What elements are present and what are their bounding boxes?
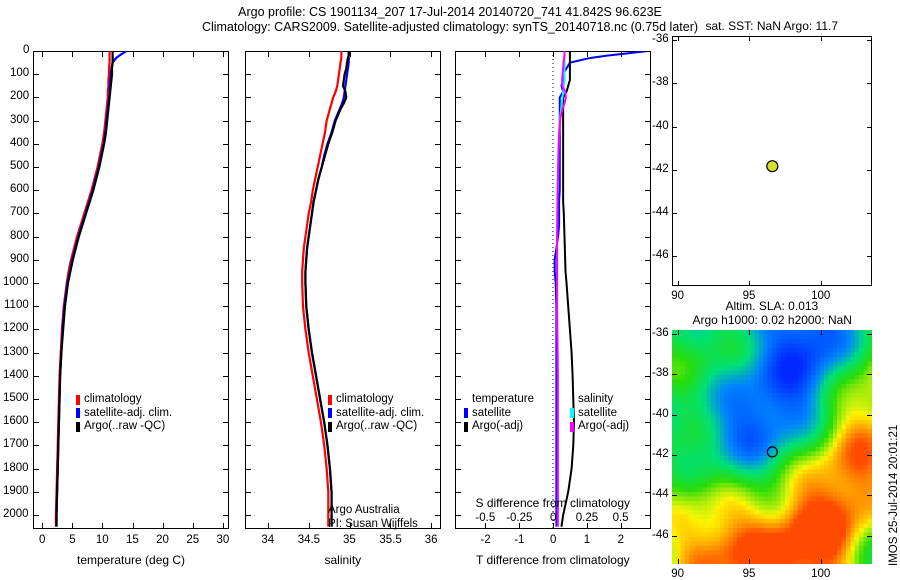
map-ytick <box>867 213 872 214</box>
legend-item: temperature <box>464 393 534 407</box>
map-xtick <box>749 36 750 41</box>
map-ytick <box>867 536 872 537</box>
legend-item: Argo(..raw -QC) <box>76 420 172 434</box>
legend-swatch-argo-adj-salinity <box>570 422 574 432</box>
xtick <box>309 51 310 57</box>
ytick <box>245 469 251 470</box>
ytick <box>435 399 441 400</box>
ytick <box>645 144 651 145</box>
xtick <box>223 523 224 529</box>
ytick <box>455 329 461 330</box>
ytick <box>223 144 229 145</box>
legend-label: Argo(..raw -QC) <box>336 420 417 434</box>
map-ytick <box>672 455 677 456</box>
ytick <box>245 353 251 354</box>
legend-label: salinity <box>578 393 613 407</box>
credit-block: Argo Australia PI: Susan Wijffels <box>328 504 418 531</box>
map-ytick <box>867 455 872 456</box>
ytick <box>435 144 441 145</box>
ytick <box>223 399 229 400</box>
map-canvas-sst_map <box>672 36 872 286</box>
map-xtick <box>678 559 679 564</box>
ytick <box>33 260 39 261</box>
s-xtick-label: -0.25 <box>506 512 532 524</box>
map-xtick <box>821 330 822 335</box>
ytick <box>33 445 39 446</box>
ytick <box>245 399 251 400</box>
xaxis-label-salinity: salinity <box>325 553 362 567</box>
map-ytick <box>672 83 677 84</box>
ytick <box>223 213 229 214</box>
legend-swatch-argo-raw <box>76 422 80 432</box>
ytick <box>435 97 441 98</box>
map-ytick <box>672 127 677 128</box>
map-ytick <box>867 127 872 128</box>
ytick <box>223 445 229 446</box>
ytick <box>33 329 39 330</box>
xtick <box>42 523 43 529</box>
ytick <box>435 213 441 214</box>
map-ytick-label: -36 <box>652 327 669 339</box>
difference-legend-salinity: salinity satellite Argo(-adj) <box>570 393 629 434</box>
ytick <box>645 260 651 261</box>
ytick <box>33 306 39 307</box>
legend-label: climatology <box>336 393 394 407</box>
ytick <box>223 237 229 238</box>
ytick <box>33 422 39 423</box>
xtick <box>72 51 73 57</box>
ytick <box>245 445 251 446</box>
map-xtick <box>678 281 679 286</box>
xtick <box>431 523 432 529</box>
map-ytick-label: -42 <box>652 163 669 175</box>
plot-canvas-temperature <box>33 51 229 529</box>
ytick <box>245 190 251 191</box>
ytick <box>223 492 229 493</box>
map-xtick <box>749 559 750 564</box>
map-ytick <box>867 83 872 84</box>
map-xtick <box>749 330 750 335</box>
ytick <box>645 399 651 400</box>
map-ytick <box>867 256 872 257</box>
map-xtick-label: 90 <box>671 290 684 302</box>
ytick <box>33 515 39 516</box>
xtick-label: 1 <box>584 534 590 546</box>
legend-item: Argo(..raw -QC) <box>328 420 424 434</box>
map-ytick-label: -42 <box>652 448 669 460</box>
ytick <box>245 422 251 423</box>
ytick <box>223 329 229 330</box>
ytick <box>455 515 461 516</box>
map-ytick-label: -38 <box>652 367 669 379</box>
legend-label: satellite-adj. clim. <box>84 407 172 421</box>
ytick <box>33 283 39 284</box>
xtick-label: 25 <box>186 534 199 546</box>
ytick <box>33 353 39 354</box>
ytick <box>245 260 251 261</box>
map-xtick <box>678 36 679 41</box>
legend-label: temperature <box>472 393 534 407</box>
ytick <box>645 353 651 354</box>
map-ytick <box>672 213 677 214</box>
xtick-label: 36 <box>425 534 438 546</box>
ytick <box>455 237 461 238</box>
ytick <box>223 469 229 470</box>
legend-item: satellite-adj. clim. <box>76 407 172 421</box>
map-title: Altim. SLA: 0.013 <box>726 299 819 313</box>
ytick <box>455 306 461 307</box>
xtick-label: 20 <box>156 534 169 546</box>
map-ytick <box>867 40 872 41</box>
legend-label: Argo(..raw -QC) <box>84 420 165 434</box>
ytick <box>645 515 651 516</box>
map-ytick <box>867 334 872 335</box>
ytick <box>645 283 651 284</box>
ytick <box>645 376 651 377</box>
map-ytick-label: -46 <box>652 529 669 541</box>
ytick <box>33 492 39 493</box>
map-ytick <box>867 495 872 496</box>
plot-canvas-difference <box>455 51 651 529</box>
xaxis-label-temperature: temperature (deg C) <box>77 553 185 567</box>
s-xtick-label: 0.5 <box>613 512 629 524</box>
ytick-label: 1800 <box>3 462 29 474</box>
plot-canvas-salinity <box>245 51 441 529</box>
ytick <box>245 144 251 145</box>
ytick-label: 100 <box>10 67 29 79</box>
imos-timestamp: IMOS 25-Jul-2014 20:01:21 <box>888 425 900 566</box>
xtick <box>309 523 310 529</box>
ytick <box>223 190 229 191</box>
ytick-label: 200 <box>10 90 29 102</box>
ytick <box>455 97 461 98</box>
ytick <box>455 492 461 493</box>
map-ytick-label: -36 <box>652 33 669 45</box>
map-ytick-label: -44 <box>652 488 669 500</box>
ytick <box>245 74 251 75</box>
map-ytick <box>672 374 677 375</box>
xtick <box>163 51 164 57</box>
ytick <box>245 51 251 52</box>
ytick <box>455 353 461 354</box>
xtick-label: 35 <box>343 534 356 546</box>
xtick <box>193 523 194 529</box>
map-ytick <box>867 374 872 375</box>
xtick <box>133 51 134 57</box>
ytick <box>33 376 39 377</box>
ytick <box>435 283 441 284</box>
ytick <box>223 515 229 516</box>
ytick <box>455 74 461 75</box>
ytick-label: 0 <box>23 44 29 56</box>
ytick <box>33 97 39 98</box>
ytick-label: 400 <box>10 137 29 149</box>
ytick <box>223 260 229 261</box>
ytick-label: 800 <box>10 230 29 242</box>
legend-swatch-argo-raw <box>328 422 332 432</box>
ytick <box>645 422 651 423</box>
map-xtick <box>821 559 822 564</box>
xtick <box>163 523 164 529</box>
legend-swatch-spacer <box>570 395 574 405</box>
ytick <box>33 469 39 470</box>
map-ytick-label: -46 <box>652 249 669 261</box>
xtick <box>553 51 554 57</box>
ytick <box>435 492 441 493</box>
ytick-label: 600 <box>10 183 29 195</box>
s-axis-label: S difference from climatology <box>476 496 631 510</box>
ytick-label: 1500 <box>3 392 29 404</box>
ytick-label: 1100 <box>4 299 29 311</box>
ytick <box>223 97 229 98</box>
ytick <box>435 190 441 191</box>
map-ytick-label: -38 <box>652 76 669 88</box>
ytick <box>455 144 461 145</box>
xtick <box>102 523 103 529</box>
legend-item: climatology <box>328 393 424 407</box>
map-title: Argo h1000: 0.02 h2000: NaN <box>693 313 852 327</box>
map-ytick <box>867 415 872 416</box>
xtick-label: -2 <box>480 534 490 546</box>
map-ytick <box>672 40 677 41</box>
map-ytick <box>672 256 677 257</box>
map-xtick <box>821 36 822 41</box>
ytick-label: 2000 <box>3 508 29 520</box>
legend-item: satellite <box>464 407 534 421</box>
map-xtick <box>678 330 679 335</box>
legend-swatch-spacer <box>464 395 468 405</box>
ytick <box>33 167 39 168</box>
ytick <box>223 283 229 284</box>
ytick <box>645 237 651 238</box>
ytick <box>33 237 39 238</box>
difference-legend-temperature: temperature satellite Argo(-adj) <box>464 393 534 434</box>
ytick <box>245 97 251 98</box>
map-title: sat. SST: NaN Argo: 11.7 <box>706 19 839 33</box>
map-canvas-sla_map <box>672 330 872 564</box>
ytick <box>455 422 461 423</box>
ytick <box>435 260 441 261</box>
ytick <box>645 190 651 191</box>
salinity-legend: climatology satellite-adj. clim. Argo(..… <box>328 393 424 434</box>
legend-item: satellite <box>570 407 629 421</box>
legend-swatch-satellite-adj <box>76 408 80 418</box>
legend-item: climatology <box>76 393 172 407</box>
ytick <box>435 167 441 168</box>
ytick <box>223 51 229 52</box>
map-ytick <box>867 170 872 171</box>
xtick-label: 15 <box>126 534 139 546</box>
legend-swatch-satellite-salinity <box>570 408 574 418</box>
ytick <box>645 445 651 446</box>
xtick <box>587 51 588 57</box>
ytick <box>223 306 229 307</box>
xtick <box>193 51 194 57</box>
xtick <box>621 51 622 57</box>
ytick <box>245 515 251 516</box>
legend-swatch-argo-adj-temperature <box>464 422 468 432</box>
ytick <box>245 121 251 122</box>
page-title-line1: Argo profile: CS 1901134_207 17-Jul-2014… <box>0 5 900 20</box>
map-ytick <box>672 495 677 496</box>
map-ytick-label: -44 <box>652 206 669 218</box>
ytick <box>435 74 441 75</box>
xtick <box>268 51 269 57</box>
xtick <box>268 523 269 529</box>
ytick <box>645 492 651 493</box>
t-axis-label: T difference from climatology <box>476 553 630 567</box>
ytick <box>33 121 39 122</box>
ytick <box>245 306 251 307</box>
map-xtick-label: 100 <box>811 568 830 580</box>
xtick-label: 0 <box>39 534 45 546</box>
s-xtick-label: 0.25 <box>576 512 598 524</box>
ytick-label: 500 <box>10 160 29 172</box>
ytick <box>33 399 39 400</box>
xtick <box>485 51 486 57</box>
legend-item: satellite-adj. clim. <box>328 407 424 421</box>
legend-item: Argo(-adj) <box>464 420 534 434</box>
ytick-label: 1400 <box>3 369 29 381</box>
legend-label: climatology <box>84 393 142 407</box>
xtick <box>72 523 73 529</box>
legend-swatch-satellite-temperature <box>464 408 468 418</box>
legend-swatch-satellite-adj <box>328 408 332 418</box>
ytick <box>645 74 651 75</box>
xtick-label: -1 <box>514 534 524 546</box>
ytick-label: 1200 <box>3 322 29 334</box>
map-ytick-label: -40 <box>652 408 669 420</box>
ytick <box>455 399 461 400</box>
ytick <box>435 376 441 377</box>
ytick <box>33 144 39 145</box>
ytick <box>645 469 651 470</box>
ytick-label: 1300 <box>3 346 29 358</box>
credit-org: Argo Australia <box>328 504 418 518</box>
ytick <box>645 97 651 98</box>
map-xtick-label: 95 <box>743 568 756 580</box>
ytick <box>245 237 251 238</box>
ytick <box>455 121 461 122</box>
ytick <box>455 445 461 446</box>
ytick <box>245 283 251 284</box>
map-ytick <box>672 536 677 537</box>
s-xtick-label: 0 <box>550 512 556 524</box>
ytick <box>645 329 651 330</box>
ytick <box>245 213 251 214</box>
xtick <box>350 51 351 57</box>
legend-label: Argo(-adj) <box>472 420 523 434</box>
ytick <box>245 329 251 330</box>
ytick <box>33 74 39 75</box>
ytick <box>223 353 229 354</box>
ytick-label: 1600 <box>3 415 29 427</box>
xtick-label: 5 <box>69 534 75 546</box>
ytick <box>245 376 251 377</box>
ytick <box>645 306 651 307</box>
ytick-label: 700 <box>10 206 29 218</box>
xtick <box>431 51 432 57</box>
ytick <box>435 422 441 423</box>
map-xtick-label: 90 <box>671 568 684 580</box>
xtick <box>390 51 391 57</box>
ytick <box>33 51 39 52</box>
ytick-label: 1900 <box>3 485 29 497</box>
ytick-label: 1700 <box>3 438 29 450</box>
ytick <box>455 283 461 284</box>
ytick <box>245 492 251 493</box>
ytick <box>645 167 651 168</box>
ytick <box>645 213 651 214</box>
ytick <box>435 329 441 330</box>
ytick <box>435 51 441 52</box>
ytick <box>455 469 461 470</box>
ytick <box>223 74 229 75</box>
ytick <box>645 121 651 122</box>
xtick <box>42 51 43 57</box>
legend-swatch-climatology <box>328 395 332 405</box>
xtick-label: 0 <box>550 534 556 546</box>
map-ytick <box>672 334 677 335</box>
ytick-label: 1000 <box>3 276 29 288</box>
ytick-label: 900 <box>10 253 29 265</box>
ytick <box>223 121 229 122</box>
legend-label: satellite-adj. clim. <box>336 407 424 421</box>
ytick <box>435 469 441 470</box>
xtick-label: 34 <box>261 534 274 546</box>
ytick <box>455 260 461 261</box>
xtick-label: 2 <box>618 534 624 546</box>
xtick <box>133 523 134 529</box>
ytick <box>455 167 461 168</box>
temperature-legend: climatology satellite-adj. clim. Argo(..… <box>76 393 172 434</box>
ytick <box>223 422 229 423</box>
credit-pi: PI: Susan Wijffels <box>328 518 418 532</box>
ytick <box>33 213 39 214</box>
xtick-label: 34.5 <box>298 534 320 546</box>
map-ytick <box>672 170 677 171</box>
map-ytick-label: -40 <box>652 120 669 132</box>
legend-swatch-climatology <box>76 395 80 405</box>
ytick <box>245 167 251 168</box>
xtick <box>102 51 103 57</box>
legend-item: salinity <box>570 393 629 407</box>
legend-item: Argo(-adj) <box>570 420 629 434</box>
ytick <box>223 376 229 377</box>
legend-label: Argo(-adj) <box>578 420 629 434</box>
s-xtick-label: -0.5 <box>475 512 495 524</box>
ytick <box>455 213 461 214</box>
legend-label: satellite <box>472 407 511 421</box>
xtick-label: 10 <box>96 534 109 546</box>
ytick <box>435 121 441 122</box>
legend-label: satellite <box>578 407 617 421</box>
ytick <box>455 190 461 191</box>
ytick-label: 300 <box>10 114 29 126</box>
ytick <box>455 376 461 377</box>
ytick <box>435 515 441 516</box>
xtick-label: 35.5 <box>379 534 401 546</box>
ytick <box>33 190 39 191</box>
xtick <box>519 51 520 57</box>
xtick-label: 30 <box>216 534 229 546</box>
map-ytick <box>672 415 677 416</box>
ytick <box>435 237 441 238</box>
ytick <box>435 445 441 446</box>
map-xtick <box>749 281 750 286</box>
ytick <box>645 51 651 52</box>
ytick <box>435 306 441 307</box>
